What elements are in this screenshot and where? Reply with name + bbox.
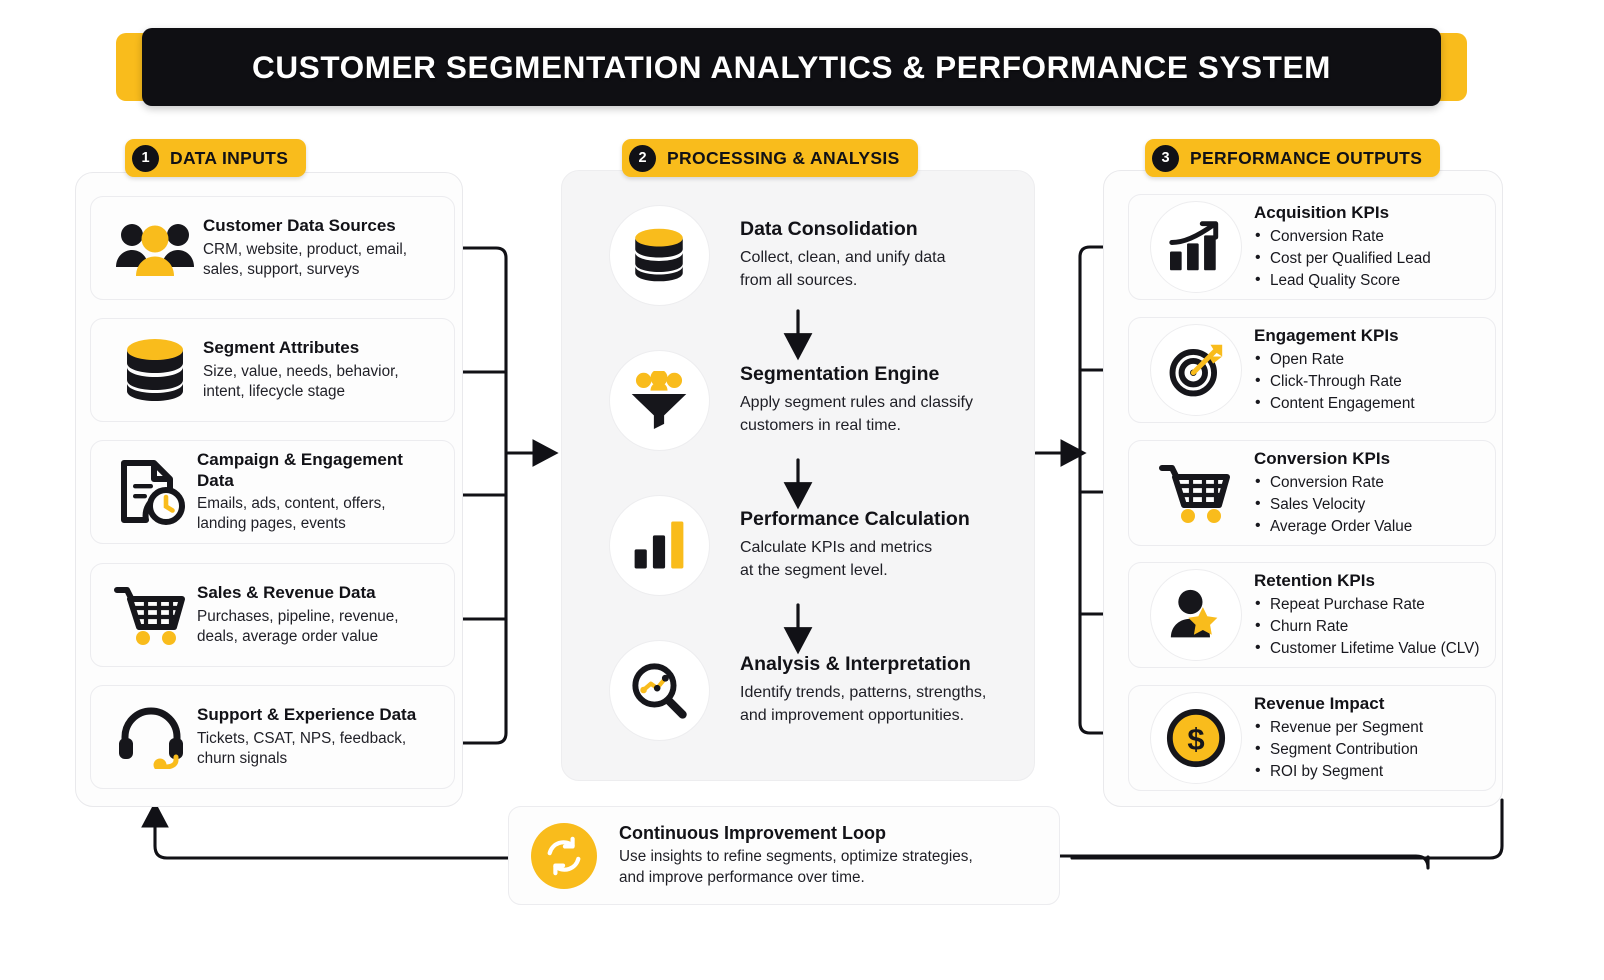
kpi-list: Conversion Rate Sales Velocity Average O… [1254,472,1487,537]
kpi-item: Click-Through Rate [1254,371,1487,393]
card-subtext: Tickets, CSAT, NPS, feedback, churn sign… [197,729,444,769]
document-clock-icon [105,458,197,526]
section-label: DATA INPUTS [170,148,288,169]
kpi-item: Lead Quality Score [1254,270,1487,292]
magnifier-trend-icon [609,640,710,741]
card-text: Acquisition KPIs Conversion Rate Cost pe… [1254,203,1487,292]
card-line: Size, value, needs, behavior, [203,362,440,382]
step-number-badge: 1 [132,145,159,172]
process-step-analysis-interpretation[interactable]: Analysis & Interpretation Identify trend… [600,640,1020,740]
growth-chart-arrow-icon [1150,201,1242,293]
card-title: Sales & Revenue Data [197,583,444,603]
infographic-canvas: CUSTOMER SEGMENTATION ANALYTICS & PERFOR… [0,0,1604,980]
title-banner: CUSTOMER SEGMENTATION ANALYTICS & PERFOR… [116,28,1467,106]
card-line: CRM, website, product, email, [203,240,440,260]
input-card-sales-revenue-data[interactable]: Sales & Revenue Data Purchases, pipeline… [90,563,455,667]
step-title: Segmentation Engine [740,363,1020,386]
step-title: Analysis & Interpretation [740,653,1020,676]
card-line: sales, support, surveys [203,260,440,280]
kpi-item: Conversion Rate [1254,472,1487,494]
step-subtext: Calculate KPIs and metrics at the segmen… [740,536,1020,582]
step-icon-wrap [600,495,718,596]
dollar-coin-icon: $ [1150,692,1242,784]
step-icon-wrap [600,640,718,741]
step-line: Identify trends, patterns, strengths, [740,681,1020,704]
card-line: landing pages, events [197,514,444,534]
step-text: Segmentation Engine Apply segment rules … [718,363,1020,437]
card-text: Campaign & Engagement Data Emails, ads, … [197,450,444,534]
funnel-segment-icon [609,350,710,451]
card-title: Engagement KPIs [1254,326,1487,346]
kpi-item: ROI by Segment [1254,761,1487,783]
kpi-item: Sales Velocity [1254,494,1487,516]
card-title: Campaign & Engagement Data [197,450,444,491]
kpi-item: Customer Lifetime Value (CLV) [1254,638,1487,660]
card-line: Emails, ads, content, offers, [197,494,444,514]
kpi-icon-wrap [1137,324,1254,416]
step-icon-wrap [600,350,718,451]
card-text: Support & Experience Data Tickets, CSAT,… [197,705,444,768]
kpi-item: Repeat Purchase Rate [1254,594,1487,616]
section-header-data-inputs: 1 DATA INPUTS [125,139,306,177]
kpi-list: Conversion Rate Cost per Qualified Lead … [1254,226,1487,291]
database-stack-icon [609,205,710,306]
card-line: intent, lifecycle stage [203,382,440,402]
input-card-segment-attributes[interactable]: Segment Attributes Size, value, needs, b… [90,318,455,422]
shopping-cart-icon [105,584,197,646]
loop-line: and improve performance over time. [619,868,973,888]
step-title: Data Consolidation [740,218,1020,241]
card-text: Customer Data Sources CRM, website, prod… [203,216,440,279]
card-text: Sales & Revenue Data Purchases, pipeline… [197,583,444,646]
bar-chart-icon [609,495,710,596]
card-line: deals, average order value [197,627,444,647]
kpi-item: Conversion Rate [1254,226,1487,248]
card-title: Retention KPIs [1254,571,1487,591]
card-title: Customer Data Sources [203,216,440,236]
step-subtext: Apply segment rules and classify custome… [740,391,1020,437]
section-header-processing: 2 PROCESSING & ANALYSIS [622,139,918,177]
section-label: PROCESSING & ANALYSIS [667,148,900,169]
kpi-icon-wrap [1137,569,1254,661]
database-stack-icon [107,337,203,403]
card-title: Revenue Impact [1254,694,1487,714]
loop-title: Continuous Improvement Loop [619,823,973,844]
step-line: Apply segment rules and classify [740,391,1020,414]
step-text: Performance Calculation Calculate KPIs a… [718,508,1020,582]
card-line: churn signals [197,749,444,769]
card-text: Segment Attributes Size, value, needs, b… [203,338,440,401]
kpi-item: Cost per Qualified Lead [1254,248,1487,270]
headset-support-icon [105,705,197,769]
step-icon-wrap [600,205,718,306]
kpi-icon-wrap [1137,201,1254,293]
card-title: Support & Experience Data [197,705,444,725]
page-title: CUSTOMER SEGMENTATION ANALYTICS & PERFOR… [252,49,1331,86]
step-subtext: Collect, clean, and unify data from all … [740,246,1020,292]
card-title: Segment Attributes [203,338,440,358]
section-label: PERFORMANCE OUTPUTS [1190,148,1422,169]
step-text: Data Consolidation Collect, clean, and u… [718,218,1020,292]
step-subtext: Identify trends, patterns, strengths, an… [740,681,1020,727]
card-subtext: Purchases, pipeline, revenue, deals, ave… [197,607,444,647]
step-line: Calculate KPIs and metrics [740,536,1020,559]
kpi-item: Churn Rate [1254,616,1487,638]
card-subtext: Emails, ads, content, offers, landing pa… [197,494,444,534]
card-subtext: Size, value, needs, behavior, intent, li… [203,362,440,402]
card-title: Acquisition KPIs [1254,203,1487,223]
step-line: from all sources. [740,269,1020,292]
step-number-badge: 2 [629,145,656,172]
target-dart-icon [1150,324,1242,416]
section-header-outputs: 3 PERFORMANCE OUTPUTS [1145,139,1440,177]
kpi-item: Open Rate [1254,349,1487,371]
kpi-icon-wrap [1137,462,1254,524]
card-line: Tickets, CSAT, NPS, feedback, [197,729,444,749]
kpi-list: Repeat Purchase Rate Churn Rate Customer… [1254,594,1487,659]
output-card-conversion-kpis[interactable]: Conversion KPIs Conversion Rate Sales Ve… [1128,440,1496,546]
loop-line: Use insights to refine segments, optimiz… [619,847,973,867]
step-line: customers in real time. [740,414,1020,437]
step-text: Analysis & Interpretation Identify trend… [718,653,1020,727]
input-card-campaign-engagement-data[interactable]: Campaign & Engagement Data Emails, ads, … [90,440,455,544]
refresh-cycle-icon [531,823,597,889]
card-text: Engagement KPIs Open Rate Click-Through … [1254,326,1487,415]
kpi-item: Segment Contribution [1254,739,1487,761]
input-card-support-experience-data[interactable]: Support & Experience Data Tickets, CSAT,… [90,685,455,789]
card-text: Conversion KPIs Conversion Rate Sales Ve… [1254,449,1487,538]
loop-text: Continuous Improvement Loop Use insights… [619,823,973,888]
card-line: Purchases, pipeline, revenue, [197,607,444,627]
step-number-badge: 3 [1152,145,1179,172]
title-bar: CUSTOMER SEGMENTATION ANALYTICS & PERFOR… [142,28,1441,106]
kpi-item: Revenue per Segment [1254,717,1487,739]
step-title: Performance Calculation [740,508,1020,531]
loop-subtext: Use insights to refine segments, optimiz… [619,847,973,888]
output-card-acquisition-kpis[interactable]: Acquisition KPIs Conversion Rate Cost pe… [1128,194,1496,300]
input-card-customer-data-sources[interactable]: Customer Data Sources CRM, website, prod… [90,196,455,300]
svg-text:$: $ [1187,722,1204,757]
continuous-improvement-loop-card[interactable]: Continuous Improvement Loop Use insights… [508,806,1060,905]
output-card-engagement-kpis[interactable]: Engagement KPIs Open Rate Click-Through … [1128,317,1496,423]
output-card-retention-kpis[interactable]: Retention KPIs Repeat Purchase Rate Chur… [1128,562,1496,668]
card-text: Revenue Impact Revenue per Segment Segme… [1254,694,1487,783]
kpi-item: Content Engagement [1254,393,1487,415]
process-step-data-consolidation[interactable]: Data Consolidation Collect, clean, and u… [600,205,1020,305]
kpi-icon-wrap: $ [1137,692,1254,784]
user-star-icon [1150,569,1242,661]
card-text: Retention KPIs Repeat Purchase Rate Chur… [1254,571,1487,660]
step-line: Collect, clean, and unify data [740,246,1020,269]
process-step-performance-calculation[interactable]: Performance Calculation Calculate KPIs a… [600,495,1020,595]
kpi-list: Revenue per Segment Segment Contribution… [1254,717,1487,782]
card-subtext: CRM, website, product, email, sales, sup… [203,240,440,280]
kpi-list: Open Rate Click-Through Rate Content Eng… [1254,349,1487,414]
output-card-revenue-impact[interactable]: $ Revenue Impact Revenue per Segment Seg… [1128,685,1496,791]
process-step-segmentation-engine[interactable]: Segmentation Engine Apply segment rules … [600,350,1020,450]
step-line: and improvement opportunities. [740,704,1020,727]
users-group-icon [107,220,203,276]
step-line: at the segment level. [740,559,1020,582]
card-title: Conversion KPIs [1254,449,1487,469]
kpi-item: Average Order Value [1254,516,1487,538]
